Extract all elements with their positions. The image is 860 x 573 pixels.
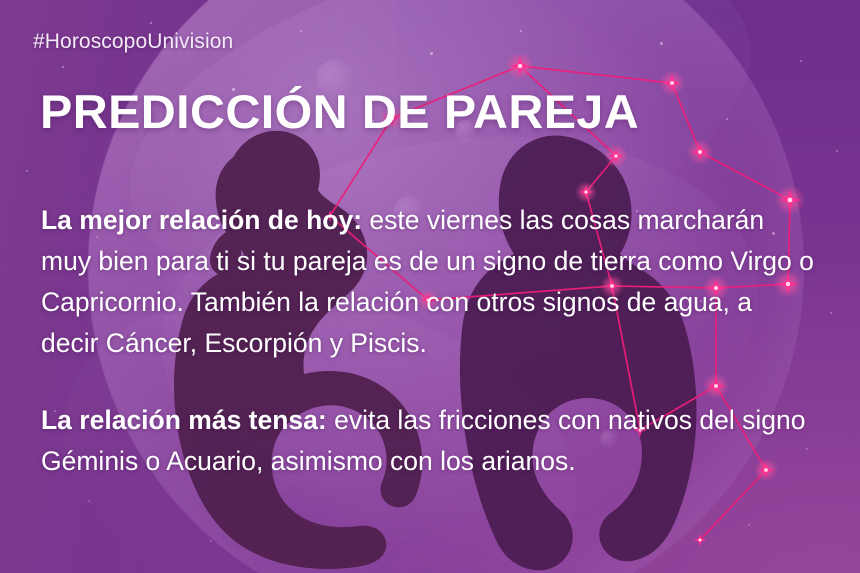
prediction-paragraph-tense: La relación más tensa: evita las friccio… bbox=[41, 400, 816, 482]
page-title: PREDICCIÓN DE PAREJA bbox=[40, 88, 639, 135]
horoscope-card: #HoroscopoUnivision PREDICCIÓN DE PAREJA… bbox=[0, 0, 860, 573]
prediction-body: La mejor relación de hoy: este viernes l… bbox=[41, 200, 816, 482]
best-relation-lead: La mejor relación de hoy: bbox=[41, 205, 362, 235]
tense-relation-lead: La relación más tensa: bbox=[41, 405, 327, 435]
hashtag-label: #HoroscopoUnivision bbox=[33, 30, 233, 54]
prediction-paragraph-best: La mejor relación de hoy: este viernes l… bbox=[41, 200, 816, 364]
